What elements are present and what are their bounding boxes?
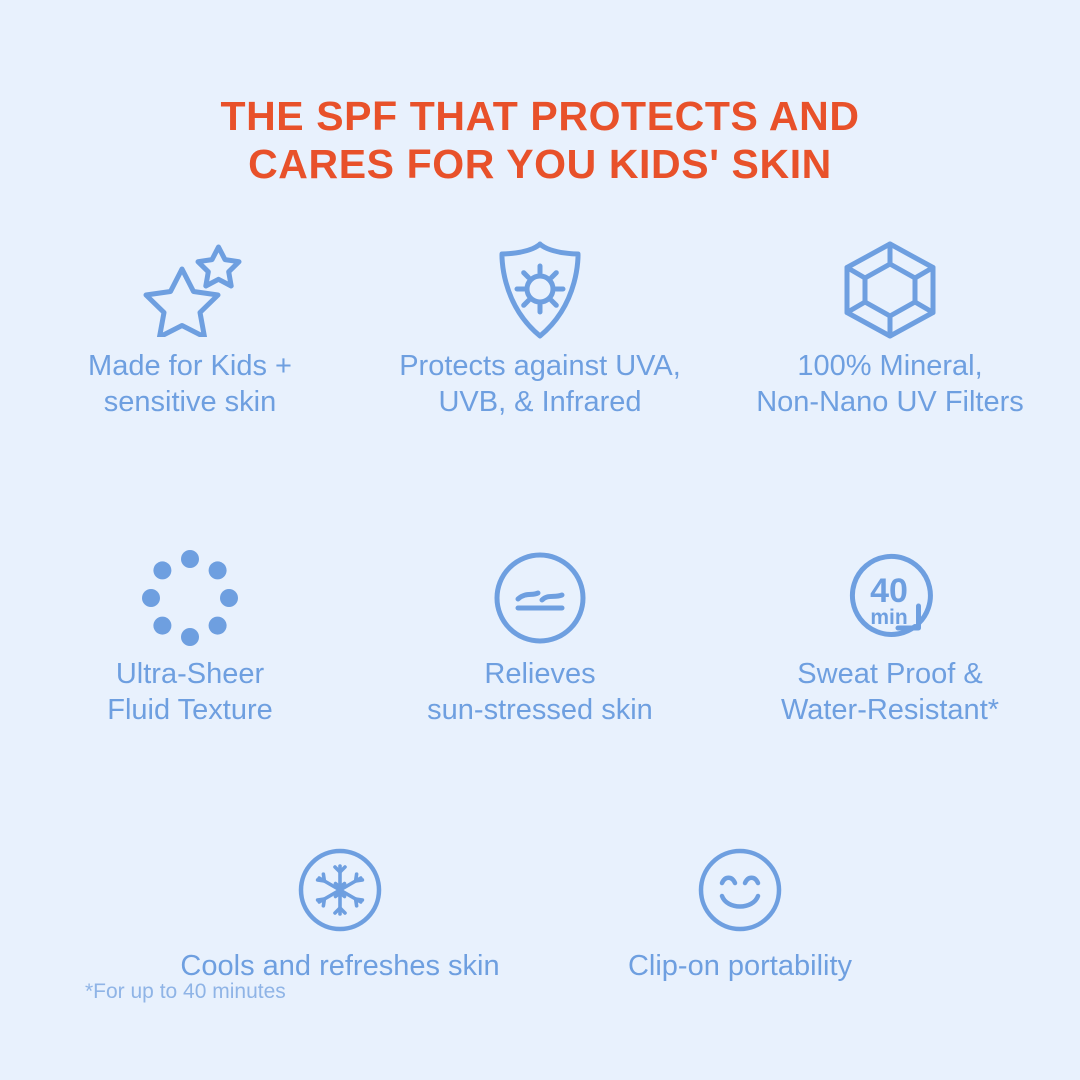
promo-graphic: THE SPF THAT PROTECTS AND CARES FOR YOU … <box>0 0 1080 1080</box>
feature-row-1: Made for Kids + sensitive skin Protects … <box>0 238 1080 420</box>
timer-number: 40 <box>870 572 908 610</box>
timer-unit: min <box>870 606 907 629</box>
feature-label: Protects against UVA, UVB, & Infrared <box>399 348 681 420</box>
shield-sun-icon <box>497 238 583 342</box>
page-title: THE SPF THAT PROTECTS AND CARES FOR YOU … <box>0 92 1080 188</box>
feature-made-for-kids: Made for Kids + sensitive skin <box>15 238 365 420</box>
feature-cools-refreshes: Cools and refreshes skin <box>140 838 540 984</box>
snowflake-icon <box>298 838 382 942</box>
two-stars-icon <box>138 238 242 342</box>
feature-clip-on-portability: Clip-on portability <box>540 838 940 984</box>
feature-label: 100% Mineral, Non-Nano UV Filters <box>756 348 1024 420</box>
feature-relieves-sun-stress: Relieves sun-stressed skin <box>365 546 715 728</box>
feature-label: Ultra-Sheer Fluid Texture <box>107 656 273 728</box>
feature-label: Made for Kids + sensitive skin <box>88 348 292 420</box>
dotted-circle-icon <box>142 546 238 650</box>
feature-label: Sweat Proof & Water-Resistant* <box>781 656 999 728</box>
smiley-face-icon <box>698 838 782 942</box>
feature-row-3: Cools and refreshes skin Clip-on portabi… <box>0 838 1080 984</box>
feature-mineral-filters: 100% Mineral, Non-Nano UV Filters <box>715 238 1065 420</box>
feature-uva-uvb-protection: Protects against UVA, UVB, & Infrared <box>365 238 715 420</box>
feature-row-2: Ultra-Sheer Fluid Texture Relieves sun-s… <box>0 546 1080 728</box>
footnote: *For up to 40 minutes <box>85 978 286 1006</box>
forty-min-timer-icon: 40 min <box>842 546 938 650</box>
page-title-line-1: THE SPF THAT PROTECTS AND <box>0 92 1080 140</box>
feature-label: Relieves sun-stressed skin <box>427 656 653 728</box>
feature-ultra-sheer-texture: Ultra-Sheer Fluid Texture <box>15 546 365 728</box>
feature-grid: Made for Kids + sensitive skin Protects … <box>0 238 1080 984</box>
feature-label: Clip-on portability <box>628 948 852 984</box>
mineral-gem-icon <box>842 238 938 342</box>
page-title-line-2: CARES FOR YOU KIDS' SKIN <box>0 140 1080 188</box>
skin-relief-icon <box>494 546 586 650</box>
feature-sweat-water-resistant: 40 min Sweat Proof & Water-Resistant* <box>715 546 1065 728</box>
